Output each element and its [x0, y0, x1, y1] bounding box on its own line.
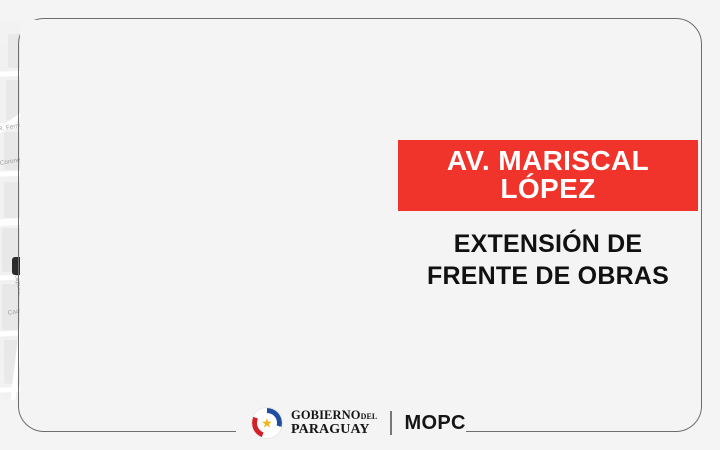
arrow-right-icon — [253, 235, 267, 249]
map-area[interactable]: Prof. Ramón Can. Francisco Martínez R. F… — [0, 22, 400, 400]
government-wordmark: GOBIERNODEL PARAGUAY — [291, 409, 377, 437]
page-subtitle: EXTENSIÓN DE FRENTE DE OBRAS — [398, 228, 698, 292]
direction-dot-icon — [234, 351, 242, 359]
legend-item-zona-de-obras: Zona de obras — [234, 339, 382, 347]
legend-title: REFERENCIAS — [234, 314, 308, 329]
map-label-avenida-mcal-lopez: AVENIDA MARISCAL LÓPEZ — [118, 270, 174, 288]
poi-sanatorio[interactable]: H — [282, 150, 295, 163]
work-zone-marker — [68, 260, 75, 270]
poster-canvas: Prof. Ramón Can. Francisco Martínez R. F… — [0, 0, 720, 450]
legend-item-label: Zona de obras — [246, 340, 286, 347]
map-legend: REFERENCIAS Zona de obras Sentido Asunci… — [225, 304, 391, 379]
title-panel: AV. MARISCAL LÓPEZ EXTENSIÓN DE FRENTE D… — [398, 140, 698, 292]
legend-item-sentido-san-lorenzo-asuncion: Sentido San Lorenzo - Asunción — [234, 363, 382, 371]
map-label-cerro-porteno: CERRO PORTEÑO — [12, 257, 54, 275]
map-label-cerro-porteno-text: CERRO PORTEÑO — [20, 260, 47, 272]
footer-logo: ★ GOBIERNODEL PARAGUAY MOPC — [252, 408, 466, 438]
gov-line1: GOBIERNO — [291, 408, 361, 422]
legend-item-label: Sentido Asunción - San Lorenzo — [246, 352, 334, 359]
page-title: AV. MARISCAL LÓPEZ — [398, 140, 698, 211]
legend-item-label: Sentido San Lorenzo - Asunción — [246, 364, 334, 371]
logo-divider — [390, 411, 391, 435]
direction-dot-icon — [234, 363, 242, 371]
work-zone-marker — [256, 218, 263, 228]
poi-label-sanatorio: SANATORIO SAN SEBASTIÁN — [266, 188, 318, 212]
direction-banner-asuncion-label: A ASUNCIÓN — [67, 178, 116, 191]
agency-wordmark: MOPC — [405, 412, 466, 435]
map-label-1-carril: 1 CARRIL DOBLE SENTIDO — [226, 164, 274, 188]
page-subtitle-line2: FRENTE DE OBRAS — [398, 260, 698, 292]
arrow-left-icon — [51, 181, 65, 195]
legend-item-sentido-asuncion-san-lorenzo: Sentido Asunción - San Lorenzo — [234, 351, 382, 359]
gov-line2: PARAGUAY — [291, 423, 377, 437]
direction-banner-san-lorenzo-label: A SAN LORENZO — [187, 238, 251, 250]
gov-line1-small: DEL — [361, 412, 378, 421]
map-label-tacuary: TACUARY — [134, 164, 168, 175]
page-subtitle-line1: EXTENSIÓN DE — [398, 228, 698, 260]
map-label-avenida-mcal-lopez-text: AVENIDA MARISCAL LÓPEZ — [122, 273, 170, 285]
map-label-1-carril-text: 1 CARRIL DOBLE SENTIDO — [237, 167, 262, 186]
paraguay-seal-icon: ★ — [252, 408, 282, 438]
work-zone-marker-icon — [234, 339, 242, 347]
hospital-icon: H — [282, 150, 295, 163]
